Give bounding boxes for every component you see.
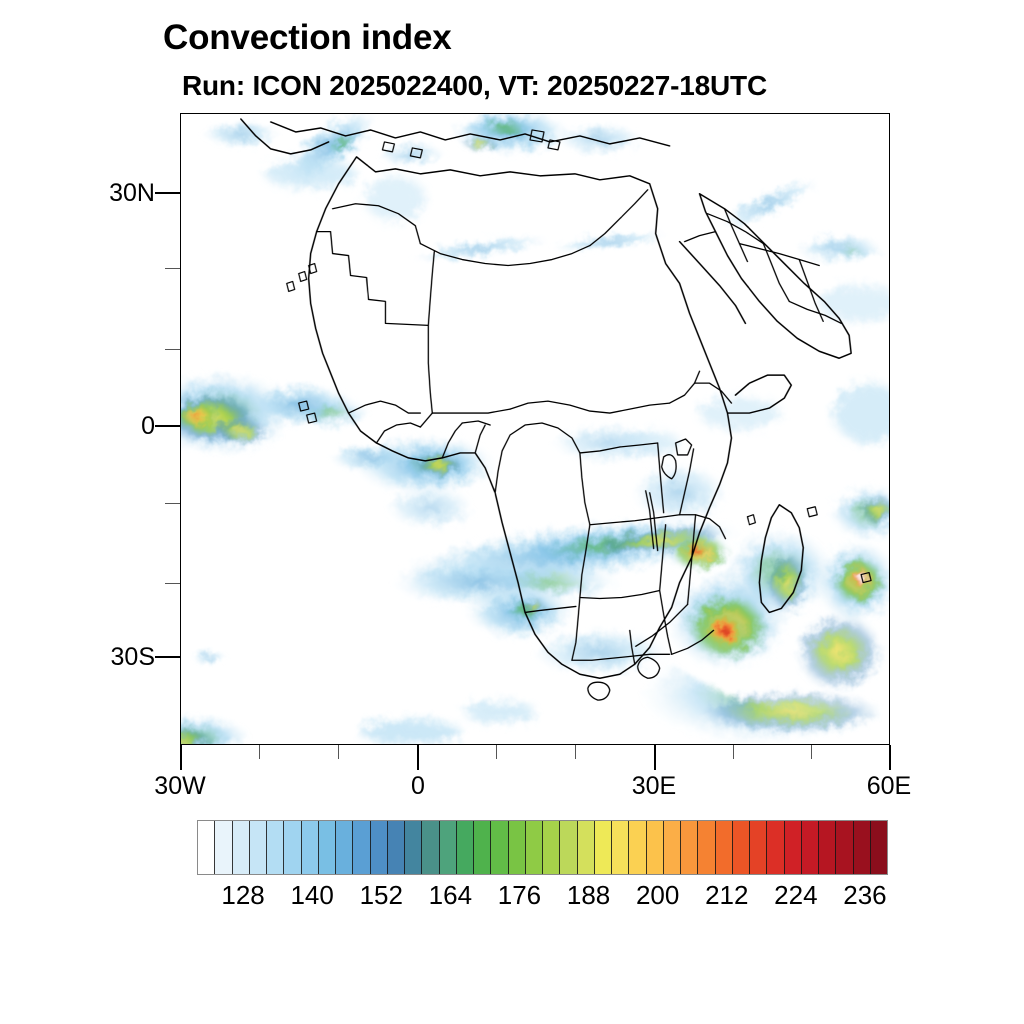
colorbar-cell-8 <box>336 821 353 874</box>
colorbar-cell-1 <box>215 821 232 874</box>
colorbar-cell-11 <box>388 821 405 874</box>
x-tick-label-0: 0 <box>358 772 478 801</box>
colorbar-tick-188: 188 <box>567 880 610 911</box>
colorbar-cell-18 <box>509 821 526 874</box>
colorbar-tick-164: 164 <box>429 880 472 911</box>
colorbar-cell-22 <box>578 821 595 874</box>
x-minor-tick-10e <box>496 745 497 759</box>
colorbar-cell-17 <box>491 821 508 874</box>
y-tick-label-30s: 30S <box>0 643 155 672</box>
colorbar-tick-128: 128 <box>221 880 264 911</box>
colorbar-cell-7 <box>319 821 336 874</box>
colorbar-cell-2 <box>233 821 250 874</box>
y-minor-tick-225 <box>165 583 180 584</box>
colorbar-tick-140: 140 <box>290 880 333 911</box>
y-tick-label-0: 0 <box>0 412 155 441</box>
y-minor-tick-345 <box>165 349 180 350</box>
colorbar-cell-14 <box>440 821 457 874</box>
colorbar[interactable] <box>197 820 888 875</box>
convection-field <box>181 114 889 744</box>
x-tick-label-30e: 30E <box>594 772 714 801</box>
map-canvas <box>181 114 889 744</box>
y-major-tick-30s <box>155 656 180 658</box>
x-minor-tick-20e <box>575 745 576 759</box>
colorbar-cell-19 <box>526 821 543 874</box>
x-tick-label-30w: 30W <box>120 772 240 801</box>
y-minor-tick-15n <box>165 268 180 269</box>
colorbar-cell-33 <box>767 821 784 874</box>
x-tick-label-60e: 60E <box>829 772 949 801</box>
colorbar-cell-34 <box>785 821 802 874</box>
colorbar-cell-9 <box>353 821 370 874</box>
colorbar-cell-24 <box>612 821 629 874</box>
x-major-tick-0 <box>417 745 419 770</box>
y-minor-tick-15s <box>165 503 180 504</box>
colorbar-cell-27 <box>664 821 681 874</box>
x-major-tick-30e <box>654 745 656 770</box>
colorbar-tick-176: 176 <box>498 880 541 911</box>
colorbar-tick-236: 236 <box>843 880 886 911</box>
colorbar-cell-23 <box>595 821 612 874</box>
colorbar-cell-20 <box>543 821 560 874</box>
convection-index-map[interactable] <box>180 113 890 745</box>
colorbar-cell-36 <box>819 821 836 874</box>
colorbar-cell-28 <box>681 821 698 874</box>
x-major-tick-60e <box>889 745 891 770</box>
colorbar-cell-4 <box>267 821 284 874</box>
colorbar-cell-16 <box>474 821 491 874</box>
y-tick-label-30n: 30N <box>0 179 155 208</box>
x-major-tick-30w <box>180 745 182 770</box>
colorbar-cell-39 <box>871 821 887 874</box>
colorbar-cell-30 <box>716 821 733 874</box>
x-minor-tick-20w <box>259 745 260 759</box>
y-major-tick-30n <box>155 192 180 194</box>
colorbar-cell-6 <box>302 821 319 874</box>
colorbar-cell-3 <box>250 821 267 874</box>
colorbar-cell-10 <box>371 821 388 874</box>
y-major-tick-0 <box>155 425 180 427</box>
run-valid-time-subtitle: Run: ICON 2025022400, VT: 20250227-18UTC <box>182 70 767 102</box>
colorbar-tick-200: 200 <box>636 880 679 911</box>
colorbar-cell-35 <box>802 821 819 874</box>
colorbar-cell-21 <box>560 821 577 874</box>
page-title: Convection index <box>163 18 452 58</box>
colorbar-cell-26 <box>647 821 664 874</box>
colorbar-cell-15 <box>457 821 474 874</box>
colorbar-tick-212: 212 <box>705 880 748 911</box>
colorbar-cell-13 <box>422 821 439 874</box>
colorbar-cell-0 <box>198 821 215 874</box>
colorbar-cell-12 <box>405 821 422 874</box>
colorbar-cell-5 <box>284 821 301 874</box>
colorbar-cell-25 <box>629 821 646 874</box>
colorbar-cell-29 <box>698 821 715 874</box>
colorbar-cell-32 <box>750 821 767 874</box>
x-minor-tick-10w <box>338 745 339 759</box>
colorbar-cell-31 <box>733 821 750 874</box>
colorbar-cell-38 <box>854 821 871 874</box>
colorbar-tick-152: 152 <box>360 880 403 911</box>
colorbar-cell-37 <box>836 821 853 874</box>
x-minor-tick-50e <box>811 745 812 759</box>
colorbar-tick-224: 224 <box>774 880 817 911</box>
x-minor-tick-40e <box>733 745 734 759</box>
colorbar-tick-labels: 128140152164176188200212224236 <box>0 880 1024 914</box>
